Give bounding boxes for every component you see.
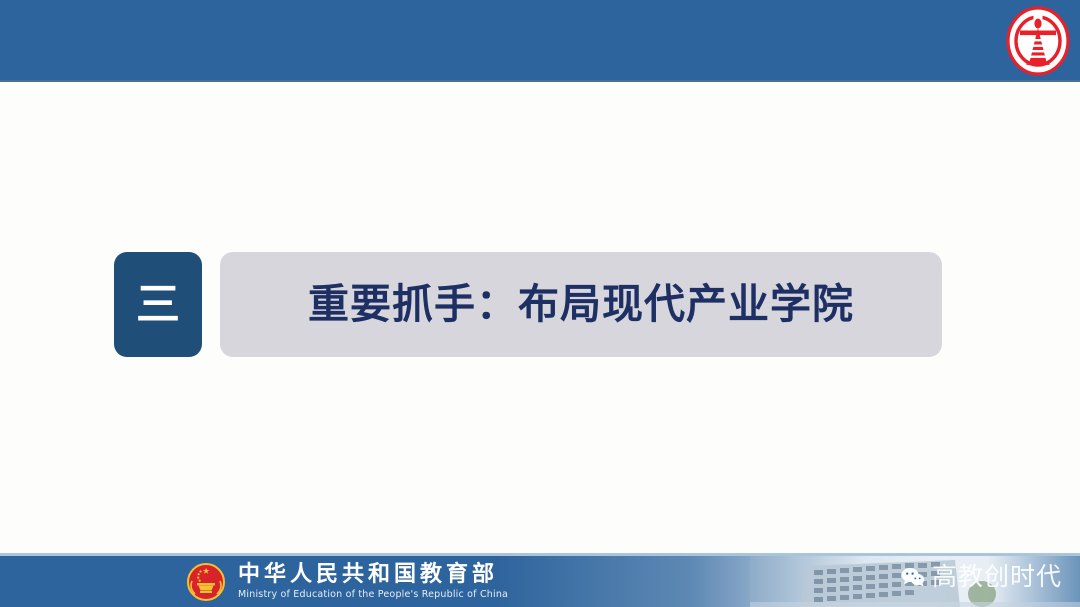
university-derrick-emblem-icon [1006, 6, 1070, 76]
slide-body: 三 重要抓手：布局现代产业学院 [0, 82, 1080, 556]
watermark: 高教创时代 [901, 564, 1062, 589]
ministry-text-group: 中华人民共和国教育部 Ministry of Education of the … [238, 562, 508, 601]
ministry-of-education-lockup: 中华人民共和国教育部 Ministry of Education of the … [186, 558, 508, 605]
section-heading: 三 重要抓手：布局现代产业学院 [114, 252, 942, 357]
presentation-slide: 三 重要抓手：布局现代产业学院 [0, 0, 1080, 607]
slide-header-band [0, 0, 1080, 82]
slide-footer-band: 中华人民共和国教育部 Ministry of Education of the … [0, 553, 1080, 607]
wechat-icon [901, 567, 925, 587]
section-title-bar: 重要抓手：布局现代产业学院 [220, 252, 942, 357]
section-title-label: 重要抓手：布局现代产业学院 [308, 284, 854, 325]
ministry-name-en: Ministry of Education of the People's Re… [238, 589, 508, 600]
watermark-label: 高教创时代 [932, 564, 1062, 589]
ministry-name-cn: 中华人民共和国教育部 [238, 562, 508, 587]
section-number-badge: 三 [114, 252, 202, 357]
china-national-emblem-icon [186, 561, 226, 603]
section-number-label: 三 [136, 283, 180, 327]
